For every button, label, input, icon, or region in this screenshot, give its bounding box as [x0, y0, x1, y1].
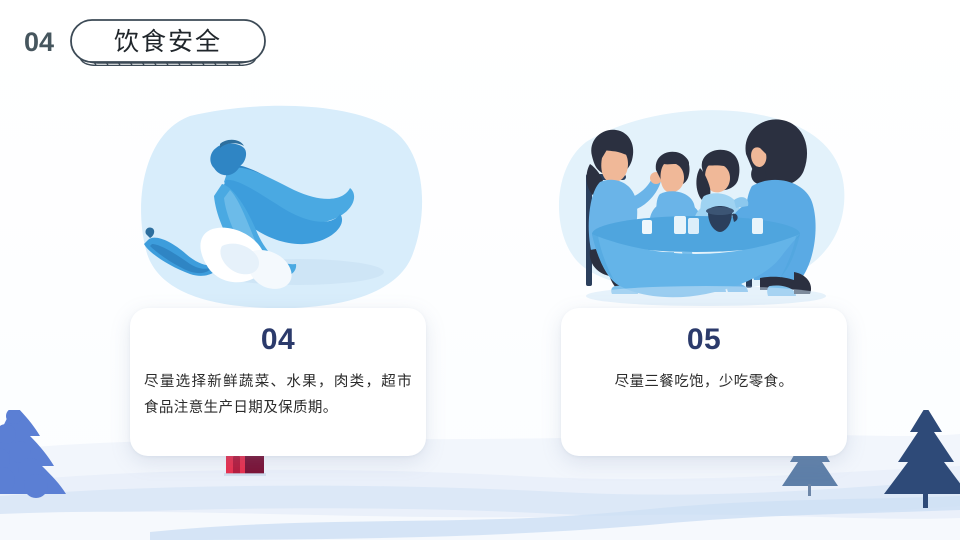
- bananas-illustration: [138, 104, 432, 316]
- glass-3: [752, 218, 763, 234]
- section-title-text: 饮食安全: [68, 18, 268, 61]
- info-card-05[interactable]: 05 尽量三餐吃饱，少吃零食。: [561, 308, 847, 456]
- glass-4: [642, 220, 652, 234]
- section-header: 04: [24, 18, 268, 66]
- card-number: 05: [687, 325, 721, 355]
- glass-2: [688, 218, 699, 234]
- section-title-pill: 饮食安全: [68, 18, 268, 66]
- card-number: 04: [261, 325, 295, 355]
- card-description: 尽量选择新鲜蔬菜、水果，肉类，超市食品注意生产日期及保质期。: [130, 369, 426, 421]
- floor-shadow: [586, 286, 826, 306]
- slide-root: 04: [0, 0, 960, 540]
- section-number: 04: [24, 29, 54, 56]
- info-card-04[interactable]: 04 尽量选择新鲜蔬菜、水果，肉类，超市食品注意生产日期及保质期。: [130, 308, 426, 456]
- card-description: 尽量三餐吃饱，少吃零食。: [601, 369, 808, 395]
- glass-1: [674, 216, 686, 234]
- family-dining-illustration: [556, 108, 856, 316]
